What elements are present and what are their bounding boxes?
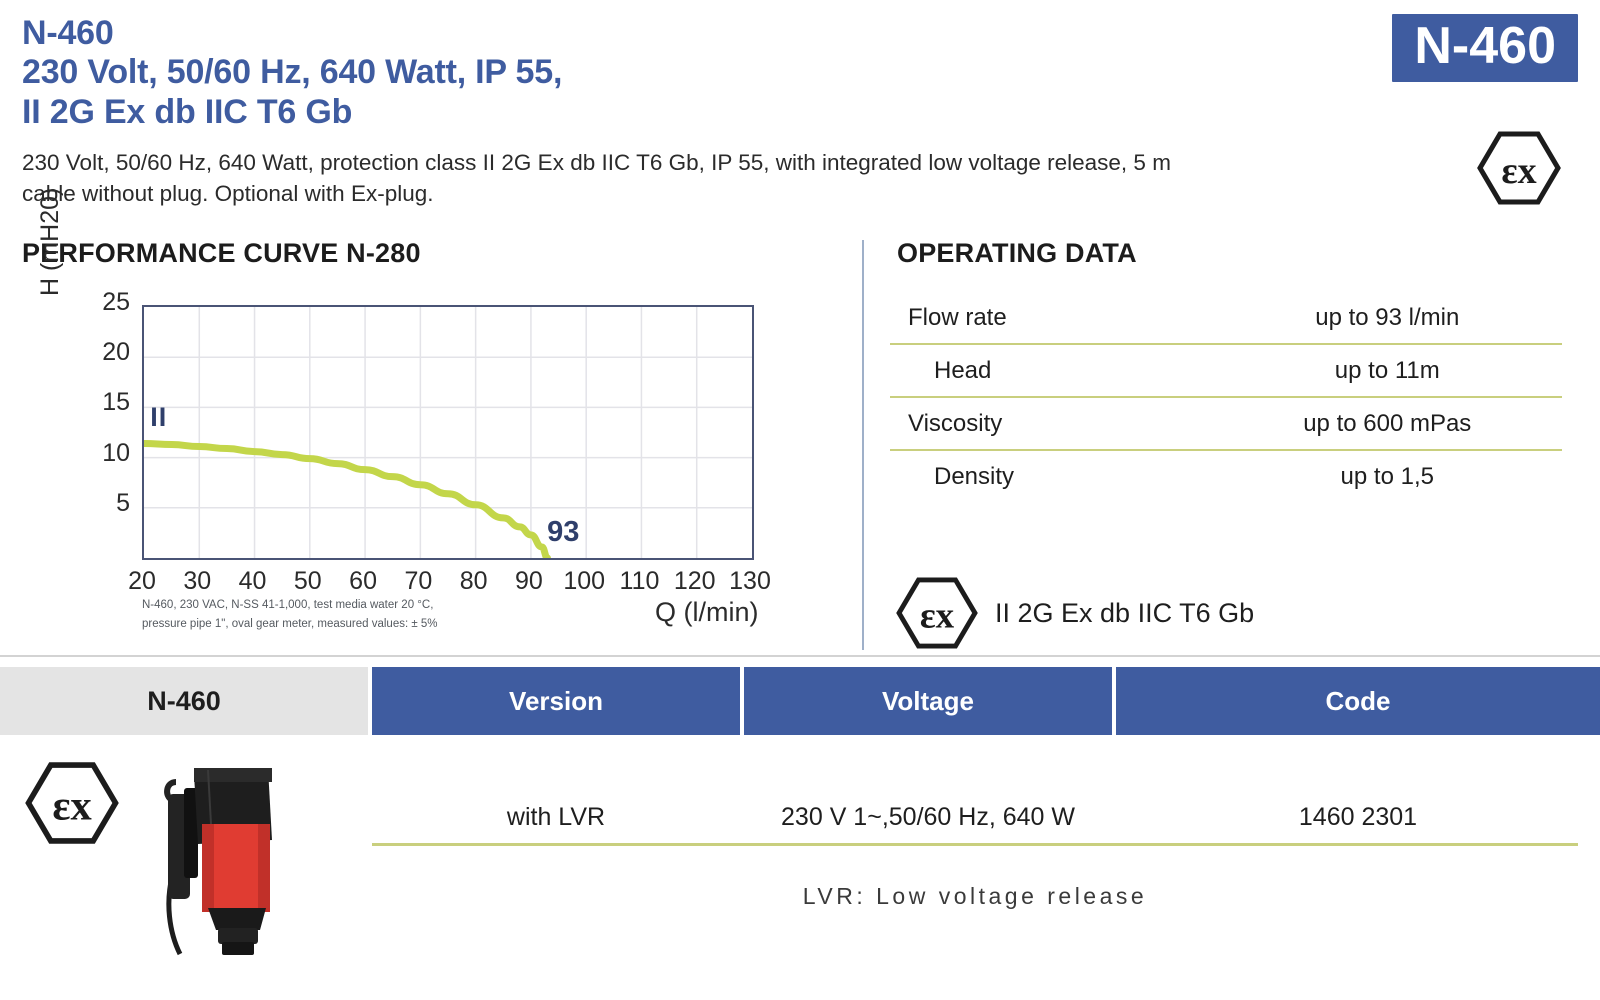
chart-plot-area	[142, 305, 754, 560]
chart-x-tick-label: 100	[556, 567, 612, 596]
atex-ex-icon: εx	[1476, 130, 1562, 206]
ex-rating-line: εx II 2G Ex db IIC T6 Gb	[895, 576, 1254, 650]
svg-text:εx: εx	[920, 596, 955, 637]
operating-data-label: Viscosity	[890, 410, 1213, 438]
chart-y-tick-label: 5	[84, 489, 130, 518]
svg-text:εx: εx	[52, 783, 91, 830]
lvr-legend-note: LVR: Low voltage release	[372, 883, 1578, 910]
chart-footnote: N-460, 230 VAC, N-SS 41-1,000, test medi…	[142, 596, 438, 634]
page-title-model: N-460	[22, 14, 1202, 53]
chart-gridlines	[144, 307, 752, 558]
column-header-voltage: Voltage	[744, 667, 1112, 735]
chart-x-tick-label: 40	[225, 567, 281, 596]
page-title-spec-line1: 230 Volt, 50/60 Hz, 640 Watt, IP 55,	[22, 53, 1202, 92]
operating-data-label: Flow rate	[890, 304, 1213, 332]
operating-data-value: up to 600 mPas	[1213, 410, 1562, 438]
product-photo-pump	[150, 752, 290, 957]
chart-annotation-ii: II	[150, 402, 167, 433]
operating-data-value: up to 11m	[1213, 357, 1562, 385]
chart-x-tick-label: 30	[169, 567, 225, 596]
chart-x-tick-label: 130	[722, 567, 778, 596]
table-cell-voltage: 230 V 1~,50/60 Hz, 640 W	[744, 795, 1112, 839]
product-description: 230 Volt, 50/60 Hz, 640 Watt, protection…	[22, 148, 1202, 209]
product-name-label: N-460	[147, 686, 221, 717]
page-title-spec-line2: II 2G Ex db IIC T6 Gb	[22, 93, 1202, 132]
chart-footnote-line1: N-460, 230 VAC, N-SS 41-1,000, test medi…	[142, 596, 438, 615]
operating-data-label: Density	[890, 463, 1213, 491]
chart-series-line	[144, 444, 547, 558]
operating-data-table: Flow rate up to 93 l/min Head up to 11m …	[890, 292, 1562, 502]
header-block: N-460 230 Volt, 50/60 Hz, 640 Watt, IP 5…	[22, 14, 1202, 209]
performance-curve-heading: PERFORMANCE CURVE N-280	[22, 238, 421, 269]
chart-y-tick-label: 10	[84, 439, 130, 468]
logo-label: N-460	[1414, 20, 1556, 72]
section-divider	[0, 655, 1600, 657]
column-header-code: Code	[1116, 667, 1600, 735]
product-name-cell: N-460	[0, 667, 368, 735]
chart-annotation-max-flow: 93	[547, 516, 579, 549]
chart-x-axis-label: Q (l/min)	[655, 597, 759, 628]
chart-x-tick-label: 50	[280, 567, 336, 596]
table-row: Density up to 1,5	[890, 451, 1562, 502]
table-row: Viscosity up to 600 mPas	[890, 398, 1562, 451]
chart-x-tick-label: 120	[667, 567, 723, 596]
chart-x-tick-label: 20	[114, 567, 170, 596]
table-row: Flow rate up to 93 l/min	[890, 292, 1562, 345]
operating-data-value: up to 93 l/min	[1213, 304, 1562, 332]
chart-y-axis-label: H (mH20)	[36, 116, 65, 296]
table-row: Head up to 11m	[890, 345, 1562, 398]
chart-y-tick-label: 20	[84, 338, 130, 367]
atex-ex-icon: εx	[24, 760, 120, 846]
svg-text:εx: εx	[1501, 150, 1536, 192]
column-header-label: Voltage	[882, 686, 974, 717]
chart-x-tick-label: 70	[390, 567, 446, 596]
table-row-underline	[372, 843, 1578, 846]
panel-divider	[862, 240, 864, 650]
chart-y-tick-label: 15	[84, 388, 130, 417]
table-cell-code: 1460 2301	[1116, 795, 1600, 839]
chart-x-tick-label: 110	[611, 567, 667, 596]
chart-x-tick-label: 80	[446, 567, 502, 596]
table-cell-version: with LVR	[372, 795, 740, 839]
column-header-label: Code	[1326, 686, 1391, 717]
operating-data-value: up to 1,5	[1213, 463, 1562, 491]
ex-rating-text: II 2G Ex db IIC T6 Gb	[995, 598, 1254, 629]
operating-data-heading: OPERATING DATA	[897, 238, 1137, 269]
chart-x-tick-label: 60	[335, 567, 391, 596]
operating-data-label: Head	[890, 357, 1213, 385]
column-header-label: Version	[509, 686, 603, 717]
column-header-version: Version	[372, 667, 740, 735]
chart-x-tick-label: 90	[501, 567, 557, 596]
atex-ex-icon: εx	[895, 576, 979, 650]
chart-footnote-line2: pressure pipe 1", oval gear meter, measu…	[142, 615, 438, 634]
chart-y-tick-label: 25	[84, 288, 130, 317]
product-logo-badge: N-460	[1392, 14, 1578, 82]
